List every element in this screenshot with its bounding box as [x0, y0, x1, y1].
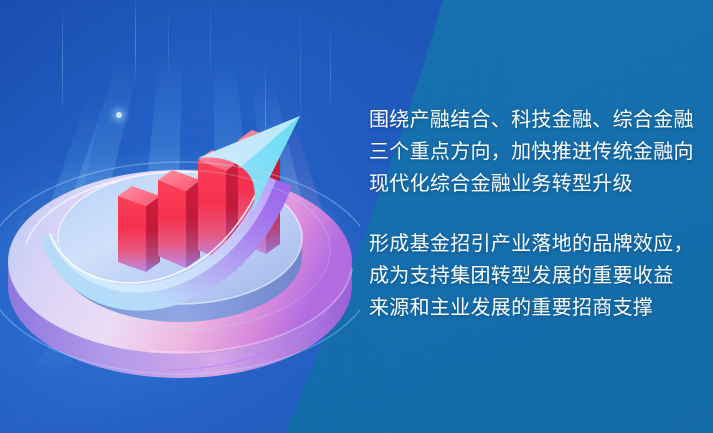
bar-2	[158, 170, 200, 268]
slide-canvas: 围绕产融结合、科技金融、综合金融 三个重点方向，加快推进传统金融向 现代化综合金…	[0, 0, 713, 433]
growth-chart-illustration	[0, 0, 360, 433]
paragraph-two: 形成基金招引产业落地的品牌效应， 成为支持集团转型发展的重要收益 来源和主业发展…	[369, 228, 699, 324]
bar-1	[118, 186, 160, 272]
paragraph-one: 围绕产融结合、科技金融、综合金融 三个重点方向，加快推进传统金融向 现代化综合金…	[369, 104, 699, 200]
copy-block: 围绕产融结合、科技金融、综合金融 三个重点方向，加快推进传统金融向 现代化综合金…	[369, 104, 699, 324]
